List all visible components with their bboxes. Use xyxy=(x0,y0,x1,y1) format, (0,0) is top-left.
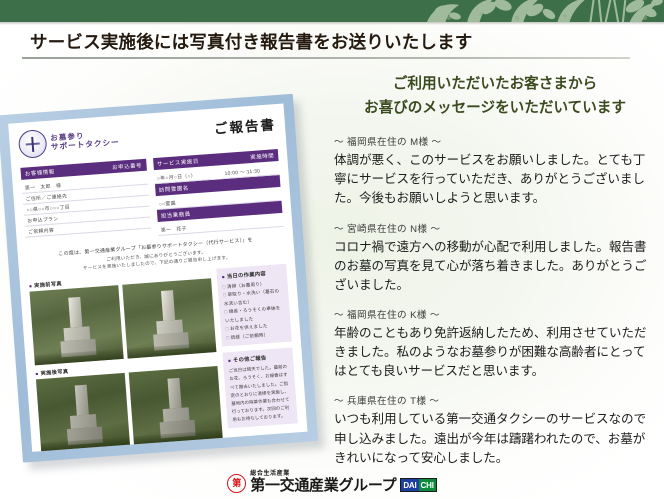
testimonials-heading-line1: ご利用いただいたお客さまから xyxy=(334,72,656,96)
grave-photo-after-1 xyxy=(36,372,130,451)
testimonial-body: いつも利用している第一交通タクシーのサービスなので申し込みました。遠出が今年は躊… xyxy=(334,410,656,467)
service-date-label: サービス実施日 xyxy=(157,157,199,168)
testimonial-body: コロナ禍で遠方への移動が心配で利用しました。報告書のお墓の写真を見て心が落ち着き… xyxy=(334,238,656,295)
testimonial-body: 体調が悪く、このサービスをお願いしました。とても丁寧にサービスを行っていただき、… xyxy=(334,151,656,208)
daiichi-badge-right: CHI xyxy=(419,479,436,491)
document-info-grid: お客様情報 お申込番号 第一 太郎 様 ご住所／ご連絡先 ○○県○○市○○○丁目… xyxy=(20,149,283,246)
testimonial-attribution: ～ 福岡県在住の M様 ～ xyxy=(334,134,656,148)
document-frame: お墓参り サポートタクシー ご報告書 お客様情報 お申込番号 第一 太郎 様 ご… xyxy=(0,94,318,463)
testimonial-item: ～ 福岡県在住の M様 ～ 体調が悪く、このサービスをお願いしました。とても丁寧… xyxy=(334,134,656,208)
company-mark-icon: 第 xyxy=(227,474,246,493)
daiichi-badge-left: DAI xyxy=(401,479,418,491)
grave-shape xyxy=(57,296,97,357)
customer-info-col: お客様情報 お申込番号 第一 太郎 様 ご住所／ご連絡先 ○○県○○市○○○丁目… xyxy=(20,159,151,246)
document-body: 実施前写真 xyxy=(29,263,299,452)
page-title-wrap: サービス実施後には写真付き報告書をお送りいたします xyxy=(30,30,630,55)
company-name-block: 総合生活産業 第一交通産業グループ xyxy=(250,471,396,493)
testimonial-attribution: ～ 福岡県在住の K様 ～ xyxy=(334,307,656,321)
photo-column: 実施前写真 xyxy=(29,269,223,452)
page-title: サービス実施後には写真付き報告書をお送りいたします xyxy=(30,30,630,55)
grave-photo-after-2 xyxy=(129,366,223,446)
report-document[interactable]: お墓参り サポートタクシー ご報告書 お客様情報 お申込番号 第一 太郎 様 ご… xyxy=(0,93,322,466)
work-content-title: 当日の作業内容 xyxy=(222,268,282,280)
testimonials-section: ご利用いただいたお客さまから お喜びのメッセージをいただいています ～ 福岡県在… xyxy=(334,72,656,480)
grave-photo-before-1 xyxy=(29,285,123,365)
company-name: 第一交通産業グループ xyxy=(250,478,396,493)
grave-shape xyxy=(63,383,103,444)
other-notes-text: ご当日は晴天でした。墓前のお花、ろうそく、お線香はすべて撤去いたしました。ご指定… xyxy=(229,363,293,424)
application-no-label: お申込番号 xyxy=(112,161,142,171)
header-band xyxy=(0,0,664,22)
testimonials-heading-line2: お喜びのメッセージをいただいています xyxy=(334,96,656,120)
title-underline xyxy=(22,57,630,59)
grave-shape xyxy=(150,289,190,350)
corporate-logo: 第 総合生活産業 第一交通産業グループ DAI CHI xyxy=(0,471,664,493)
daiichi-badge: DAI CHI xyxy=(400,478,436,492)
customer-info-label: お客様情報 xyxy=(25,167,55,177)
brand-lines: お墓参り サポートタクシー xyxy=(50,128,120,152)
before-photo-pair xyxy=(29,278,216,365)
testimonial-attribution: ～ 兵庫県在住の T様 ～ xyxy=(334,393,656,407)
work-content-panel: 当日の作業内容 清掃（お墓周り） 草取り・水洗い（墓石の水洗い含む） 線香・ろう… xyxy=(216,263,292,347)
testimonial-body: 年齢のこともあり免許返納したため、利用させていただきました。私のようなお墓参りが… xyxy=(334,324,656,381)
document-page: お墓参り サポートタクシー ご報告書 お客様情報 お申込番号 第一 太郎 様 ご… xyxy=(8,103,307,451)
grave-photo-before-2 xyxy=(122,278,216,358)
service-info-col: サービス実施日 実施時間 ○年○月○日（○） 10:00 ～ 11:30 訪問霊… xyxy=(153,149,284,236)
grave-shape xyxy=(156,376,196,437)
document-brand: お墓参り サポートタクシー xyxy=(18,124,121,159)
temple-seal-icon xyxy=(18,129,48,159)
cemetery-label: 訪問霊園名 xyxy=(159,186,189,194)
header-band-shadow xyxy=(0,22,664,25)
testimonials-heading: ご利用いただいたお客さまから お喜びのメッセージをいただいています xyxy=(334,72,656,120)
driver-label: 担当乗務員 xyxy=(161,212,191,220)
document-title: ご報告書 xyxy=(213,113,276,137)
testimonial-attribution: ～ 宮崎県在住の N様 ～ xyxy=(334,221,656,235)
testimonial-item: ～ 宮崎県在住の N様 ～ コロナ禍で遠方への移動が心配で利用しました。報告書の… xyxy=(334,221,656,295)
foliage-pattern-icon xyxy=(419,0,664,22)
after-photo-pair xyxy=(36,366,223,452)
other-notes-title: その他ご報告 xyxy=(228,352,288,364)
slide-root: サービス実施後には写真付き報告書をお送りいたします お墓参り サポートタクシー … xyxy=(0,0,664,499)
testimonial-item: ～ 福岡県在住の K様 ～ 年齢のこともあり免許返納したため、利用させていただき… xyxy=(334,307,656,381)
other-notes-panel: その他ご報告 ご当日は晴天でした。墓前のお花、ろうそく、お線香はすべて撤去いたし… xyxy=(223,348,298,429)
testimonial-item: ～ 兵庫県在住の T様 ～ いつも利用している第一交通タクシーのサービスなので申… xyxy=(334,393,656,467)
service-time-label: 実施時間 xyxy=(250,151,274,161)
side-panel-column: 当日の作業内容 清掃（お墓周り） 草取り・水洗い（墓石の水洗い含む） 線香・ろう… xyxy=(216,263,299,444)
